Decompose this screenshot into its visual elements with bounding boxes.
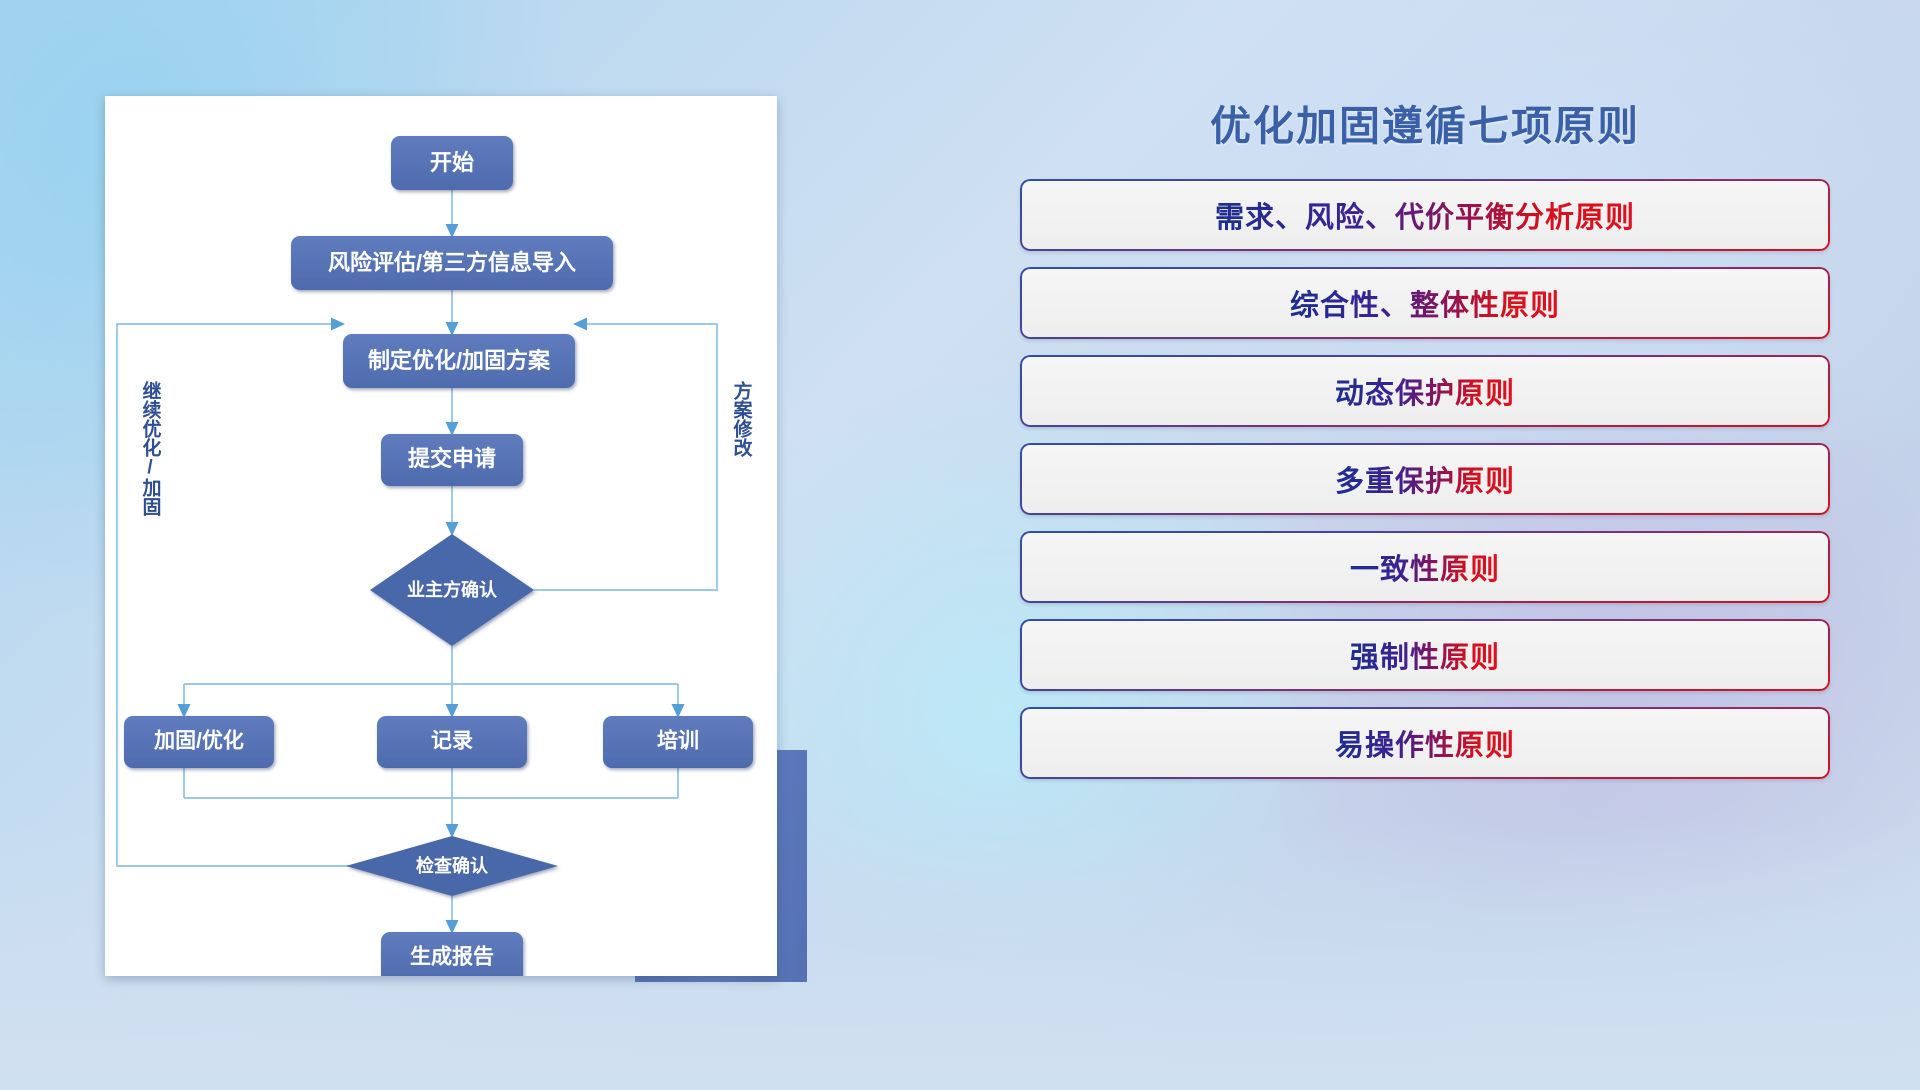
flowchart-card: 开始 风险评估/第三方信息导入 制定优化/加固方案 提交申请 业主方确认 加固/…	[105, 96, 777, 976]
flow-node-owner-confirm-label: 业主方确认	[407, 579, 498, 600]
flow-node-start: 开始	[391, 136, 513, 190]
flowchart-diagram: 开始 风险评估/第三方信息导入 制定优化/加固方案 提交申请 业主方确认 加固/…	[105, 96, 777, 976]
principle-card-2[interactable]: 综合性、整体性原则	[1020, 267, 1830, 339]
principle-label-5: 一致性原则	[1350, 546, 1500, 588]
flow-node-check-label: 检查确认	[416, 855, 489, 876]
principle-card-6[interactable]: 强制性原则	[1020, 619, 1830, 691]
flow-node-submit-label: 提交申请	[408, 446, 496, 471]
flow-node-risk-label: 风险评估/第三方信息导入	[328, 250, 576, 275]
principle-label-6: 强制性原则	[1350, 634, 1500, 676]
flow-node-owner-confirm: 业主方确认	[370, 534, 534, 646]
flow-node-plan-label: 制定优化/加固方案	[368, 348, 551, 373]
principle-card-3[interactable]: 动态保护原则	[1020, 355, 1830, 427]
flow-node-report-label: 生成报告	[410, 945, 494, 969]
flow-node-plan: 制定优化/加固方案	[343, 334, 575, 388]
flow-node-reinforce-label: 加固/优化	[153, 729, 244, 753]
principle-label-2: 综合性、整体性原则	[1290, 282, 1560, 324]
flow-node-check: 检查确认	[346, 836, 558, 896]
principle-card-5[interactable]: 一致性原则	[1020, 531, 1830, 603]
principle-card-1[interactable]: 需求、风险、代价平衡分析原则	[1020, 179, 1830, 251]
principle-label-4: 多重保护原则	[1335, 458, 1515, 500]
principle-label-3: 动态保护原则	[1335, 370, 1515, 412]
flow-node-training-label: 培训	[657, 729, 699, 753]
principle-label-1: 需求、风险、代价平衡分析原则	[1215, 194, 1635, 236]
flow-edge-label-revise: 方案修改	[731, 380, 754, 458]
principles-panel: 优化加固遵循七项原则 需求、风险、代价平衡分析原则 综合性、整体性原则 动态保护…	[1020, 104, 1830, 1004]
flow-node-risk: 风险评估/第三方信息导入	[291, 236, 613, 290]
flow-node-record-label: 记录	[431, 730, 473, 753]
flow-node-record: 记录	[377, 716, 527, 768]
flow-node-start-label: 开始	[430, 150, 474, 175]
flow-node-submit: 提交申请	[381, 434, 523, 486]
principle-card-4[interactable]: 多重保护原则	[1020, 443, 1830, 515]
flow-node-reinforce: 加固/优化	[124, 716, 274, 768]
flow-edge-label-continue: 继续优化/加固	[140, 380, 163, 517]
principle-card-7[interactable]: 易操作性原则	[1020, 707, 1830, 779]
principles-title: 优化加固遵循七项原则	[1020, 104, 1830, 149]
principle-label-7: 易操作性原则	[1335, 722, 1515, 764]
flow-node-training: 培训	[603, 716, 753, 768]
flow-node-report: 生成报告	[381, 932, 523, 976]
